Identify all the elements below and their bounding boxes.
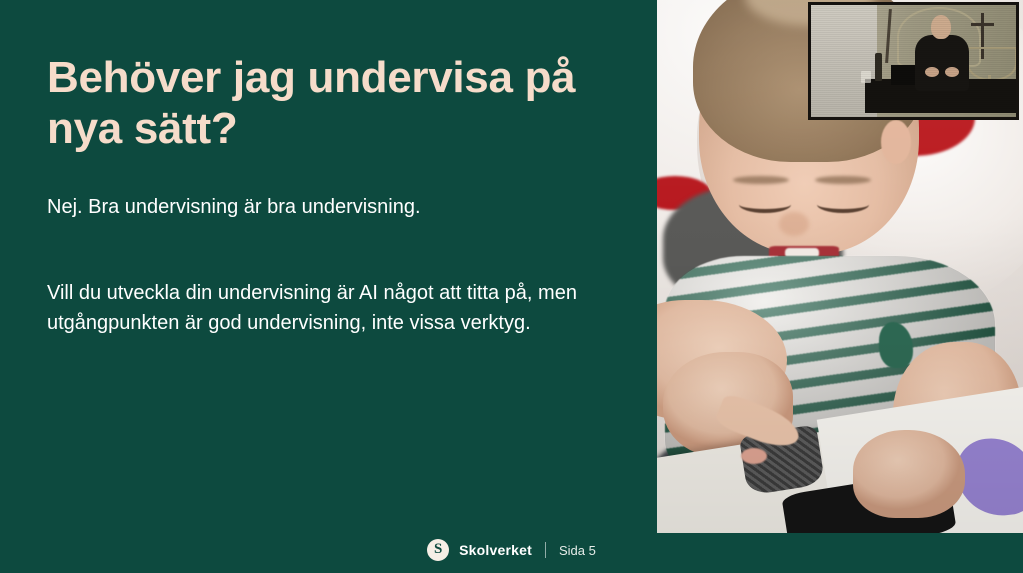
body-paragraph: Vill du utveckla din undervisning är AI … [47,278,587,339]
footer-divider [545,542,546,558]
speaker-video-overlay[interactable] [808,2,1019,120]
brand-label: Skolverket [459,542,532,558]
slide-footer: S Skolverket Sida 5 [0,539,1023,561]
video-grain-overlay [811,5,1016,117]
lead-paragraph: Nej. Bra undervisning är bra undervisnin… [47,193,607,222]
page-number-label: Sida 5 [559,543,596,558]
page-title: Behöver jag undervisa på nya sätt? [47,52,617,155]
presentation-slide: Behöver jag undervisa på nya sätt? Nej. … [0,0,1023,573]
skolverket-logo-icon: S [427,539,449,561]
slide-text-column: Behöver jag undervisa på nya sätt? Nej. … [47,0,627,573]
